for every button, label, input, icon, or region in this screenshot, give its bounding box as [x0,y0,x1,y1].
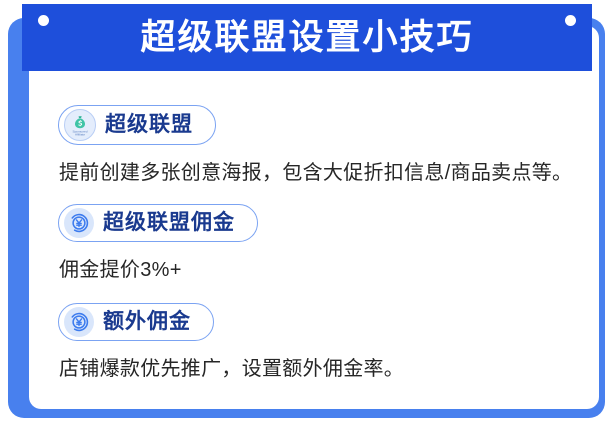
yuan-coin-icon [64,307,94,337]
yuan-coin-icon [64,208,94,238]
badge-label: 超级联盟 [105,112,193,138]
content-card: Sponsored Affiliate 超级联盟 提前创建多张创意海报，包含大促… [29,26,599,409]
outer-frame: Sponsored Affiliate 超级联盟 提前创建多张创意海报，包含大促… [8,18,605,418]
section-extra-commission: 额外佣金 店铺爆款优先推广，设置额外佣金率。 [58,303,613,384]
banner-dot-right-icon [565,15,576,26]
header-banner: 超级联盟设置小技巧 [22,4,592,71]
badge-label: 超级联盟佣金 [103,210,235,236]
section-super-affiliate: Sponsored Affiliate 超级联盟 提前创建多张创意海报，包含大促… [58,105,613,188]
banner-dot-left-icon [38,15,49,26]
section-body-text: 提前创建多张创意海报，包含大促折扣信息/商品卖点等。 [59,158,599,188]
card-content: Sponsored Affiliate 超级联盟 提前创建多张创意海报，包含大促… [58,105,613,400]
section-affiliate-commission: 超级联盟佣金 佣金提价3%+ [58,204,613,285]
badge-super-affiliate[interactable]: Sponsored Affiliate 超级联盟 [58,105,216,145]
badge-affiliate-commission[interactable]: 超级联盟佣金 [58,204,258,242]
page-title: 超级联盟设置小技巧 [140,20,473,55]
svg-text:Affiliate: Affiliate [75,132,85,136]
money-bag-icon: Sponsored Affiliate [64,109,96,141]
badge-label: 额外佣金 [103,309,191,335]
section-body-text: 佣金提价3%+ [59,255,599,285]
badge-extra-commission[interactable]: 额外佣金 [58,303,214,341]
section-body-text: 店铺爆款优先推广，设置额外佣金率。 [59,354,599,384]
